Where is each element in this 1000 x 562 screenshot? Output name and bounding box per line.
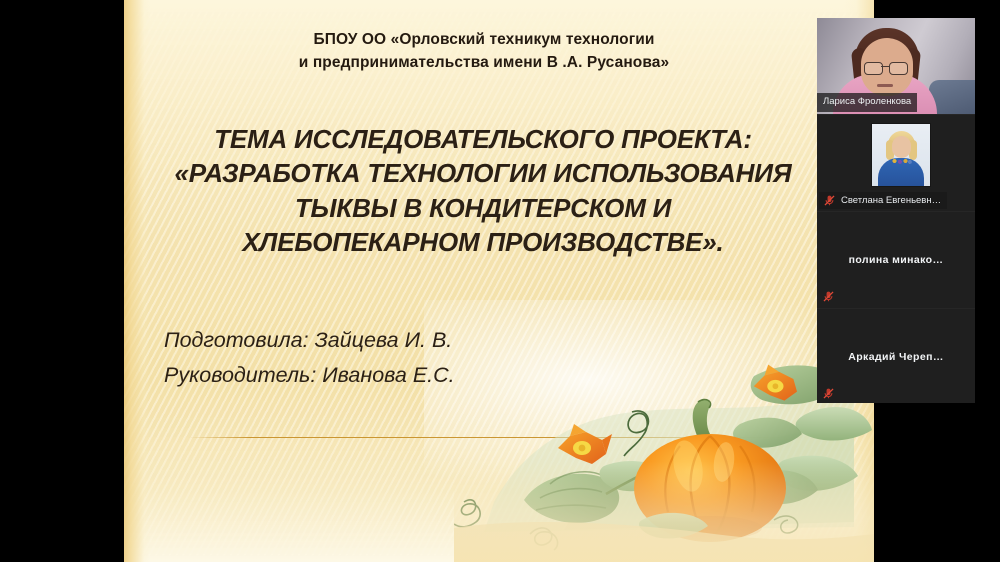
mic-muted-icon (823, 194, 836, 207)
slide-highlight-glow (424, 300, 874, 500)
title-line-1: ТЕМА ИССЛЕДОВАТЕЛЬСКОГО ПРОЕКТА: (138, 122, 828, 156)
mic-muted-icon (822, 387, 835, 400)
pumpkin-illustration (454, 352, 874, 562)
presentation-slide: БПОУ ОО «Орловский техникум технологии и… (124, 0, 874, 562)
divider-rule (188, 437, 808, 438)
avatar (872, 124, 930, 186)
page-title: ТЕМА ИССЛЕДОВАТЕЛЬСКОГО ПРОЕКТА: «РАЗРАБ… (138, 122, 828, 259)
screen-root: БПОУ ОО «Орловский техникум технологии и… (0, 0, 1000, 562)
participant-name-label: полина минако… (817, 254, 975, 266)
participant-name-row: Светлана Евгеньевн… (819, 192, 947, 210)
organization-line-2: и предпринимательства имени В .А. Русано… (164, 51, 804, 74)
byline-author: Подготовила: Зайцева И. В. (164, 323, 455, 358)
mic-muted-icon (822, 290, 835, 303)
participant-tile-name-only[interactable]: Аркадий Череп… (817, 309, 975, 403)
webcam-mouth (877, 84, 893, 87)
participant-name-label: Аркадий Череп… (817, 351, 975, 363)
title-line-3: ТЫКВЫ В КОНДИТЕРСКОМ И (138, 191, 828, 225)
participant-tile-name-only[interactable]: полина минако… (817, 212, 975, 309)
avatar-necklace (890, 157, 912, 165)
participant-tile-photo[interactable]: Светлана Евгеньевн… (817, 115, 975, 212)
slide-left-gold-edge (124, 0, 150, 562)
organization-line-1: БПОУ ОО «Орловский техникум технологии (164, 28, 804, 51)
participant-name-label: Лариса Фроленкова (817, 93, 917, 112)
webcam-glasses-bridge (881, 66, 889, 67)
title-line-2: «РАЗРАБОТКА ТЕХНОЛОГИИ ИСПОЛЬЗОВАНИЯ (138, 156, 828, 190)
participant-tile-webcam[interactable]: Лариса Фроленкова (817, 18, 975, 115)
illustration-fade-overlay (454, 352, 874, 562)
byline-block: Подготовила: Зайцева И. В. Руководитель:… (164, 323, 455, 393)
participant-name-label: Светлана Евгеньевн… (841, 195, 941, 206)
avatar-face (892, 136, 911, 158)
webcam-glasses-right (889, 62, 908, 75)
slide-texture (124, 0, 874, 562)
byline-supervisor: Руководитель: Иванова Е.С. (164, 358, 455, 393)
video-participant-panel[interactable]: Лариса Фроленкова (817, 18, 975, 403)
webcam-glasses-left (864, 62, 883, 75)
title-line-4: ХЛЕБОПЕКАРНОМ ПРОИЗВОДСТВЕ». (138, 225, 828, 259)
organization-header: БПОУ ОО «Орловский техникум технологии и… (164, 28, 804, 75)
